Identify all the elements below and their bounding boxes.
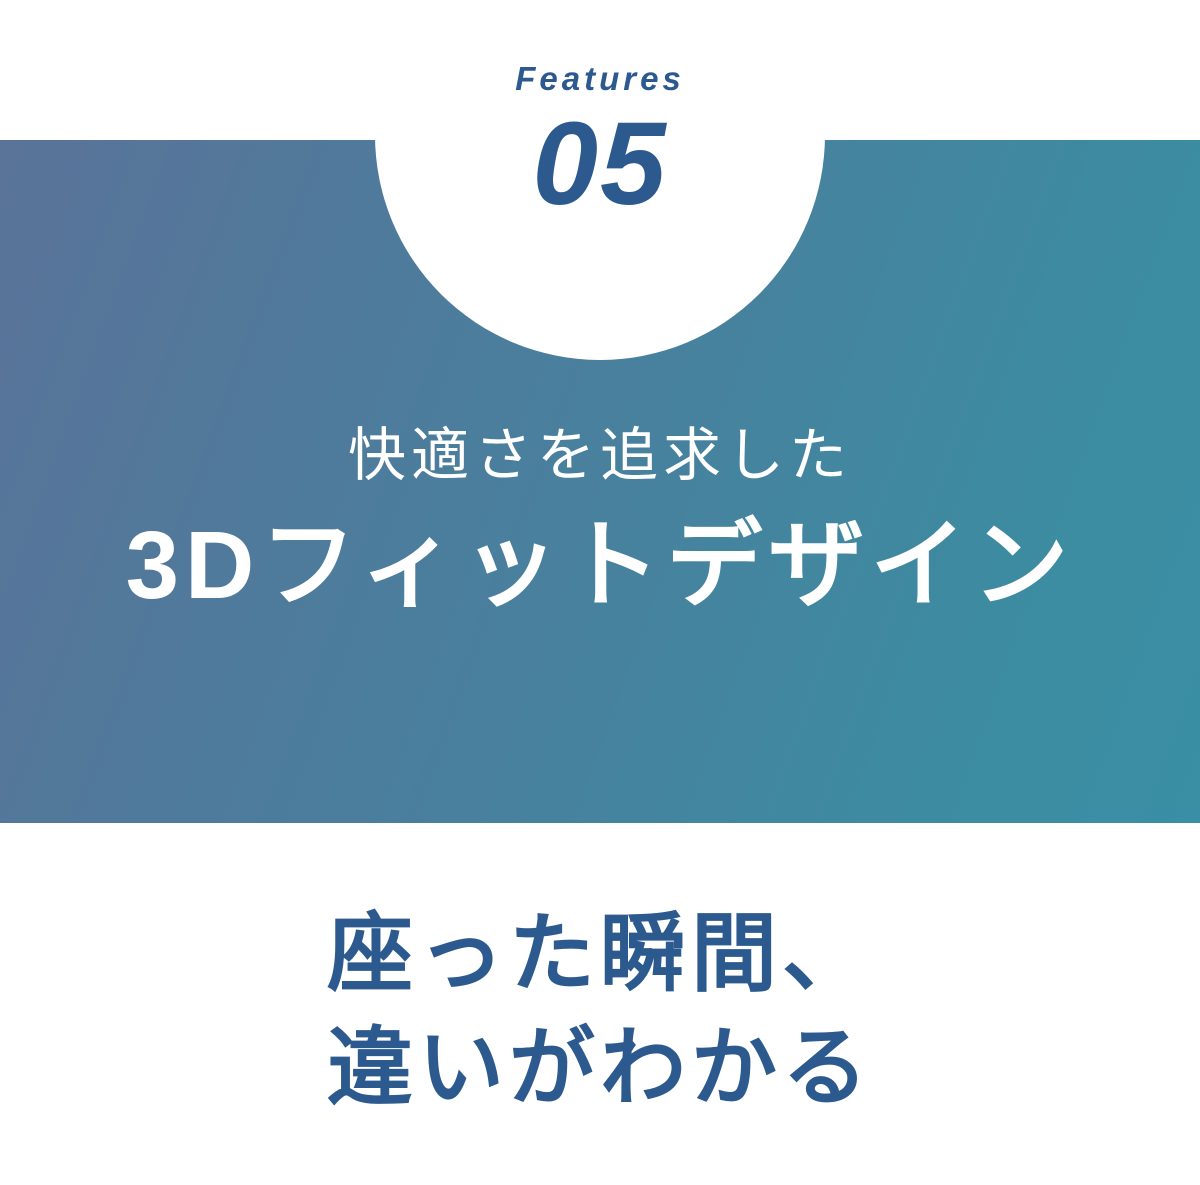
- hero-subtitle: 快適さを追求した: [0, 420, 1200, 493]
- hero-title: 3Dフィットデザイン: [0, 507, 1200, 624]
- catch-copy-line-2: 違いがわかる: [0, 1012, 1200, 1126]
- catch-copy: 座った瞬間、 違いがわかる: [0, 898, 1200, 1125]
- hero-copy: 快適さを追求した 3Dフィットデザイン: [0, 420, 1200, 624]
- catch-copy-line-1: 座った瞬間、: [0, 898, 1200, 1012]
- features-label: Features: [515, 62, 685, 95]
- feature-badge: Features 05: [375, 0, 825, 360]
- features-number: 05: [532, 103, 667, 227]
- feature-section: Features 05 快適さを追求した 3Dフィットデザイン 座った瞬間、 違…: [0, 0, 1200, 1185]
